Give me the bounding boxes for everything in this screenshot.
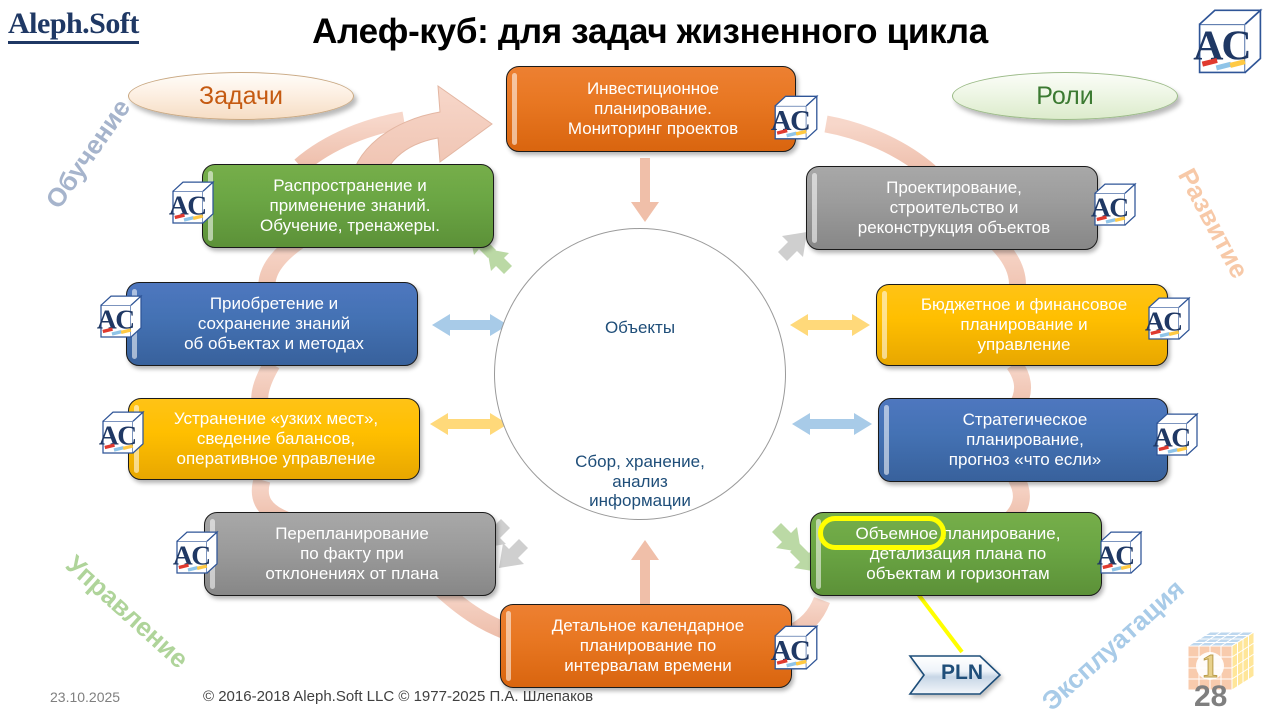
ac-cube-icon-strategic: АС: [1152, 410, 1202, 465]
arrow-strategic: [792, 413, 872, 435]
node-design-line-1: Проектирование,: [858, 178, 1050, 198]
ac-cube-icon: АС: [1192, 4, 1268, 85]
arrow-budget: [790, 314, 870, 336]
node-knowledge[interactable]: Приобретение и сохранение знаний об объе…: [126, 282, 418, 366]
node-design-line-2: строительство и: [858, 198, 1050, 218]
node-bottlenecks-line-2: сведение балансов,: [174, 429, 378, 449]
arrow-design: [778, 232, 807, 261]
node-replanning-line-2: по факту при: [265, 544, 438, 564]
legend-pill-tasks[interactable]: Задачи: [128, 72, 354, 120]
pln-callout[interactable]: PLN: [908, 654, 1008, 692]
ac-cube-icon-volume: АС: [1096, 528, 1146, 583]
node-volume-line-3: объектам и горизонтам: [856, 564, 1061, 584]
node-knowledge-line-2: сохранение знаний: [184, 314, 364, 334]
node-budget-line-1: Бюджетное и финансовое: [921, 295, 1127, 315]
arrow-calendar-up: [631, 540, 659, 604]
node-strategic[interactable]: Стратегическое планирование, прогноз «чт…: [878, 398, 1168, 482]
footer-date: 23.10.2025: [50, 689, 120, 705]
node-investment[interactable]: Инвестиционное планирование. Мониторинг …: [506, 66, 796, 152]
center-info-line-2: анализ: [520, 472, 760, 492]
node-replanning-line-1: Перепланирование: [265, 524, 438, 544]
node-strategic-line-3: прогноз «что если»: [949, 450, 1101, 470]
node-strategic-line-2: планирование,: [949, 430, 1101, 450]
arrow-knowledge: [432, 314, 508, 336]
ac-cube-icon-design: АС: [1090, 180, 1140, 235]
node-calendar-line-3: интервалам времени: [552, 656, 744, 676]
ac-cube-icon-bottlenecks: АС: [98, 408, 148, 463]
node-investment-line-2: планирование.: [568, 99, 738, 119]
pln-label: PLN: [908, 654, 1008, 692]
legend-pill-roles[interactable]: Роли: [952, 72, 1178, 120]
node-calendar-line-2: планирование по: [552, 636, 744, 656]
node-training-line-3: Обучение, тренажеры.: [260, 216, 440, 236]
node-replanning[interactable]: Перепланирование по факту при отклонения…: [204, 512, 496, 596]
node-knowledge-line-1: Приобретение и: [184, 294, 364, 314]
center-info-label: Сбор, хранение, анализ информации: [520, 452, 760, 511]
highlight-ring-volume: [818, 516, 946, 550]
center-objects-label: Объекты: [520, 318, 760, 338]
ac-cube-icon-replanning: АС: [172, 528, 222, 583]
node-budget-line-3: управление: [921, 335, 1127, 355]
node-budget-line-2: планирование и: [921, 315, 1127, 335]
ac-cube-icon-training: АС: [168, 178, 218, 233]
node-replanning-line-3: отклонениях от плана: [265, 564, 438, 584]
ac-cube-icon-knowledge: АС: [96, 292, 146, 347]
node-budget[interactable]: Бюджетное и финансовое планирование и уп…: [876, 284, 1168, 366]
node-calendar[interactable]: Детальное календарное планирование по ин…: [500, 604, 792, 688]
ac-cube-icon-calendar: АС: [770, 622, 822, 679]
arrow-bottlenecks: [430, 413, 508, 435]
node-training-line-2: применение знаний.: [260, 196, 440, 216]
node-investment-line-1: Инвестиционное: [568, 79, 738, 99]
ac-cube-icon-budget: АС: [1144, 294, 1194, 349]
node-bottlenecks-line-1: Устранение «узких мест»,: [174, 409, 378, 429]
node-knowledge-line-3: об объектах и методах: [184, 334, 364, 354]
center-info-line-1: Сбор, хранение,: [520, 452, 760, 472]
node-training[interactable]: Распространение и применение знаний. Обу…: [202, 164, 494, 248]
ac-cube-icon-investment: АС: [770, 92, 822, 149]
center-info-line-3: информации: [520, 491, 760, 511]
node-strategic-line-1: Стратегическое: [949, 410, 1101, 430]
node-design-line-3: реконструкция объектов: [858, 218, 1050, 238]
node-investment-line-3: Мониторинг проектов: [568, 119, 738, 139]
brand-logo[interactable]: Aleph.Soft: [8, 8, 139, 44]
legend-tasks-label: Задачи: [199, 82, 283, 111]
node-design[interactable]: Проектирование, строительство и реконстр…: [806, 166, 1098, 250]
legend-roles-label: Роли: [1036, 82, 1093, 111]
node-training-line-1: Распространение и: [260, 176, 440, 196]
node-bottlenecks[interactable]: Устранение «узких мест», сведение баланс…: [128, 398, 420, 480]
page-title: Алеф-куб: для задач жизненного цикла: [200, 12, 1100, 52]
footer-copyright: © 2016-2018 Aleph.Soft LLC © 1977-2025 П…: [203, 688, 593, 705]
arrow-investment-down: [631, 158, 659, 222]
node-calendar-line-1: Детальное календарное: [552, 616, 744, 636]
slide-canvas: 1 Aleph.Soft Алеф-куб: для задач жизненн…: [0, 0, 1280, 720]
page-number: 28: [1194, 680, 1227, 714]
node-bottlenecks-line-3: оперативное управление: [174, 449, 378, 469]
